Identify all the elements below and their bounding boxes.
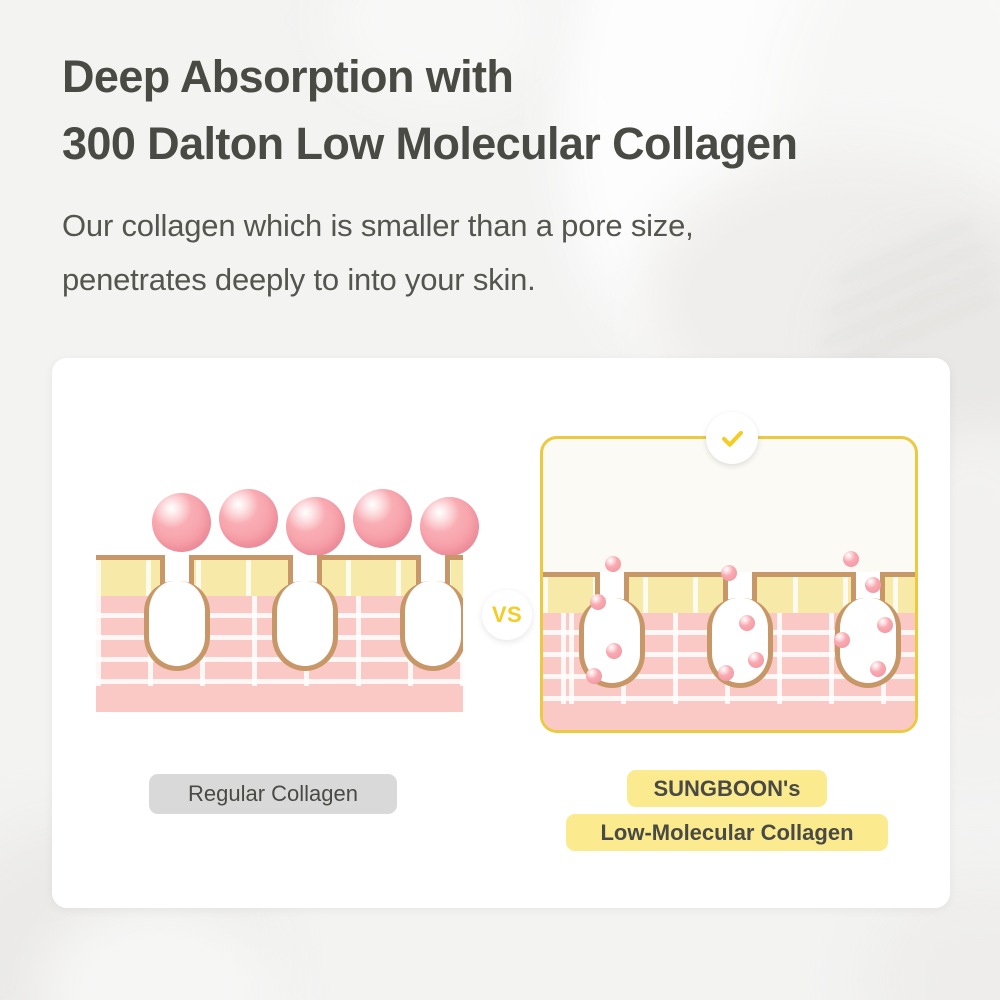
regular-collagen-diagram xyxy=(96,493,463,718)
skin-surface-line xyxy=(96,555,463,560)
small-collagen-molecule xyxy=(721,565,737,581)
pore-seam xyxy=(165,595,189,611)
small-collagen-molecule xyxy=(606,643,622,659)
small-collagen-molecule xyxy=(739,615,755,631)
small-collagen-molecule xyxy=(718,665,734,681)
deep-dermis-layer xyxy=(96,686,463,712)
label-regular-collagen: Regular Collagen xyxy=(149,774,397,814)
headings-block: Deep Absorption with 300 Dalton Low Mole… xyxy=(62,44,982,306)
pore-seam xyxy=(421,595,445,611)
small-collagen-molecule xyxy=(834,632,850,648)
large-collagen-molecule xyxy=(353,489,412,548)
low-molecular-collagen-diagram xyxy=(540,436,918,733)
small-collagen-molecule xyxy=(843,551,859,567)
small-collagen-molecule xyxy=(605,556,621,572)
comparison-card: VS Regular Collagen SUNGBOON's Low-Molec… xyxy=(52,358,950,908)
page-title-line-1: Deep Absorption with xyxy=(62,44,982,111)
label-low-molecular-collagen: Low-Molecular Collagen xyxy=(566,814,888,851)
large-collagen-molecule xyxy=(420,497,479,556)
page-title-line-2: 300 Dalton Low Molecular Collagen xyxy=(62,111,982,178)
label-brand: SUNGBOON's xyxy=(627,770,827,807)
small-collagen-molecule xyxy=(586,668,602,684)
small-collagen-molecule xyxy=(748,652,764,668)
small-collagen-molecule xyxy=(870,661,886,677)
small-collagen-molecule xyxy=(590,594,606,610)
deep-dermis-layer xyxy=(543,704,915,730)
large-collagen-molecule xyxy=(152,493,211,552)
skin-cross-section-left xyxy=(96,555,463,712)
large-collagen-molecule xyxy=(286,497,345,556)
vs-badge: VS xyxy=(482,590,532,640)
page-subtitle-line-1: Our collagen which is smaller than a por… xyxy=(62,199,982,252)
check-icon xyxy=(719,425,746,452)
pore-seam xyxy=(600,612,624,628)
pore-seam xyxy=(293,595,317,611)
page-title: Deep Absorption with 300 Dalton Low Mole… xyxy=(62,44,982,177)
small-collagen-molecule xyxy=(877,617,893,633)
large-collagen-molecule xyxy=(219,489,278,548)
small-collagen-molecule xyxy=(865,577,881,593)
page-subtitle: Our collagen which is smaller than a por… xyxy=(62,199,982,306)
page-subtitle-line-2: penetrates deeply to into your skin. xyxy=(62,253,982,306)
check-badge xyxy=(706,412,758,464)
